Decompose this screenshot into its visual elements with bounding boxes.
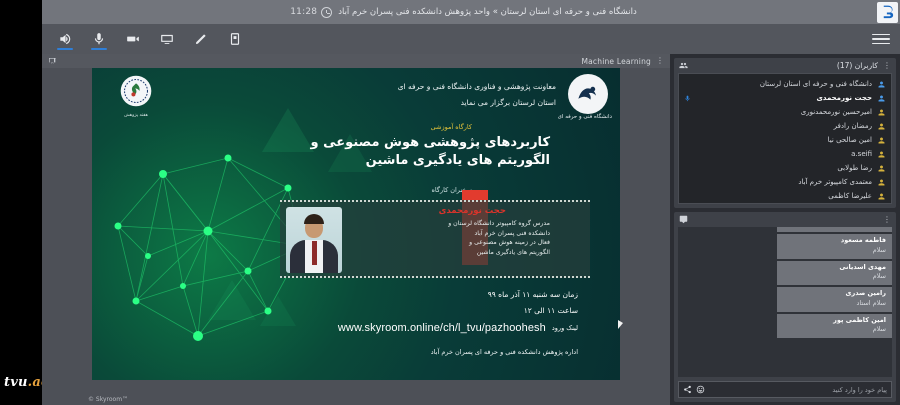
chat-message-author: فاطمه مسعود [783,236,886,246]
chat-message-author: امین کاظمی پور [783,316,886,326]
slide-link-url: www.skyroom.online/ch/l_tvu/pazhoohesh [338,322,546,334]
user-name: رمضان رادفر [834,122,872,130]
slide-title-line-1: کاربردهای پژوهشی هوش مصنوعی و [311,134,550,152]
left-rail: tvu.ac.ir [0,0,42,405]
hamburger-line [872,34,890,36]
user-avatar-icon [877,94,886,103]
user-name: دانشگاه فنی و حرفه ای استان لرستان [760,80,872,88]
speaker-photo [286,207,342,273]
chat-message-text: سلام [783,272,886,282]
slide-date: زمان سه شنبه ۱۱ آذر ماه ۹۹ [488,290,578,299]
menu-button[interactable] [872,34,890,45]
slide-canvas: دانشگاه فنی و حرفه ای هفته پژوهش معاونت … [92,68,620,380]
chat-input-bar[interactable]: پیام خود را وارد کنید [678,381,892,398]
mouse-cursor [618,320,623,329]
hamburger-line [872,38,890,40]
tvu-watermark-left: tvu [4,375,28,390]
users-panel-header: کاربران (17) ⋮ [674,58,896,73]
chat-panel-header: ⋮ [674,212,896,227]
speaker-card: حجت نورمحمدی مدرس گروه کامپیوتر دانشگاه … [280,200,590,278]
chat-message-list[interactable]: فاطمه مسعود سلام مهدی اسدیانی سلام رامین… [678,227,892,377]
speaker-name: حجت نورمحمدی [439,206,506,216]
user-name: حجت نورمحمدی [816,94,872,102]
list-item[interactable]: امین صالحی نیا [679,133,891,147]
seal-caption: دانشگاه فنی و حرفه ای [558,114,612,120]
user-avatar-icon [877,122,886,131]
slide-title-line-2: الگوریتم های یادگیری ماشین [311,152,550,170]
document-share-icon[interactable] [222,27,248,51]
chat-icon [679,215,688,224]
speaker-icon[interactable] [52,27,78,51]
stage-header: Machine Learning ⋮ [42,54,670,68]
top-bar: دانشگاه فنی و حرفه ای استان لرستان » واح… [42,0,900,24]
share-send-icon[interactable] [683,385,692,394]
user-avatar-icon [877,108,886,117]
list-item[interactable]: رمضان رادفر [679,119,891,133]
clock: 11:28 [290,7,332,18]
people-icon [679,61,688,70]
microphone-active-icon [684,94,691,103]
webcam-icon[interactable] [120,27,146,51]
stage-tab-title: Machine Learning [581,57,651,66]
presentation-stage: Machine Learning ⋮ [42,54,670,405]
chat-message: امین کاظمی پور سلام [777,314,892,341]
users-panel-kebab[interactable]: ⋮ [883,62,891,70]
list-item[interactable]: حجت نورمحمدی [679,91,891,105]
chat-panel: ⋮ فاطمه مسعود سلام مهدی اسدیانی سلام رام… [674,212,896,402]
right-sidebar: کاربران (17) ⋮ دانشگاه فنی و حرفه ای است… [670,54,900,405]
users-panel: کاربران (17) ⋮ دانشگاه فنی و حرفه ای است… [674,58,896,208]
skyroom-logo-icon [877,2,898,23]
chat-message-text: سلام استاد [783,299,886,309]
list-item[interactable]: علیرضا کاظمی [679,189,891,203]
user-avatar-icon [877,150,886,159]
list-item[interactable]: a.seifi [679,147,891,161]
microphone-icon[interactable] [86,27,112,51]
chat-message-text: سلام [783,325,886,335]
users-list[interactable]: دانشگاه فنی و حرفه ای استان لرستان حجت ن… [678,73,892,204]
controls-toolbar [42,24,900,54]
screen-share-icon[interactable] [154,27,180,51]
whiteboard-pen-icon[interactable] [188,27,214,51]
speaker-bio-line: الگوریتم های یادگیری ماشین [448,248,550,258]
list-item[interactable]: امیرحسین نورمحمدنوری [679,105,891,119]
chat-input-placeholder[interactable]: پیام خود را وارد کنید [828,386,887,394]
skyroom-meeting-window: tvu.ac.ir دانشگاه فنی و حرفه ای استان لر… [0,0,900,405]
list-item[interactable]: رضا طولابی [679,161,891,175]
chat-message: مهدی اسدیانی سلام [777,261,892,288]
slide-link-row: لینک ورود www.skyroom.online/ch/l_tvu/pa… [338,322,578,334]
chat-message-author: رامین صدری [783,289,886,299]
slide-footer: اداره پژوهش دانشکده فنی و حرفه ای پسران … [431,348,578,356]
chat-message [777,227,892,234]
room-title: دانشگاه فنی و حرفه ای استان لرستان » واح… [332,7,637,17]
list-item[interactable]: دانشگاه فنی و حرفه ای استان لرستان [679,77,891,91]
user-name: معتمدی کامپیوتر خرم آباد [798,178,872,186]
chat-message-text: سلام [783,246,886,256]
user-avatar-icon [877,136,886,145]
user-name: امیرحسین نورمحمدنوری [801,108,872,116]
chat-panel-kebab[interactable]: ⋮ [883,216,891,224]
research-week-caption: هفته پژوهش [106,113,166,119]
user-name: علیرضا کاظمی [828,192,872,200]
research-week-logo: هفته پژوهش [106,74,166,119]
slide-link-label: لینک ورود [552,324,578,332]
chat-message-author: مهدی اسدیانی [783,263,886,273]
slide-org-line-2: استان لرستان برگزار می نماید [461,98,556,107]
skyroom-copyright: © Skyroom™ [88,396,128,403]
speaker-bio-line: فعال در زمینه هوش مصنوعی و [448,238,550,248]
users-panel-title: کاربران (17) [837,61,878,70]
speaker-bio-line: مدرس گروه کامپیوتر دانشگاه لرستان و [448,219,550,229]
user-avatar-icon [877,164,886,173]
user-name: a.seifi [851,150,872,158]
speaker-bio-line: دانشکده فنی پسران خرم آباد [448,229,550,239]
chat-message: فاطمه مسعود سلام [777,234,892,261]
hamburger-line [872,43,890,45]
slide-title: کاربردهای پژوهشی هوش مصنوعی و الگوریتم ه… [311,134,550,169]
slide-kicker: کارگاه آموزشی [431,123,472,131]
slide-org-line-1: معاونت پژوهشی و فناوری دانشگاه فنی و حرف… [398,82,556,91]
presentation-icon [48,57,56,65]
user-avatar-icon [877,178,886,187]
clock-icon [321,7,332,18]
clock-time: 11:28 [290,7,317,17]
emoji-icon[interactable] [696,385,705,394]
list-item[interactable]: معتمدی کامپیوتر خرم آباد [679,175,891,189]
user-avatar-icon [877,80,886,89]
user-name: رضا طولابی [837,164,872,172]
stage-kebab-menu[interactable]: ⋮ [656,57,664,65]
tvu-seal-logo [568,74,608,114]
speaker-bio: مدرس گروه کامپیوتر دانشگاه لرستان و دانش… [448,219,550,257]
slide-time: ساعت ۱۱ الی ۱۲ [524,306,578,315]
chat-message: رامین صدری سلام استاد [777,287,892,314]
user-name: امین صالحی نیا [828,136,872,144]
user-avatar-icon [877,192,886,201]
